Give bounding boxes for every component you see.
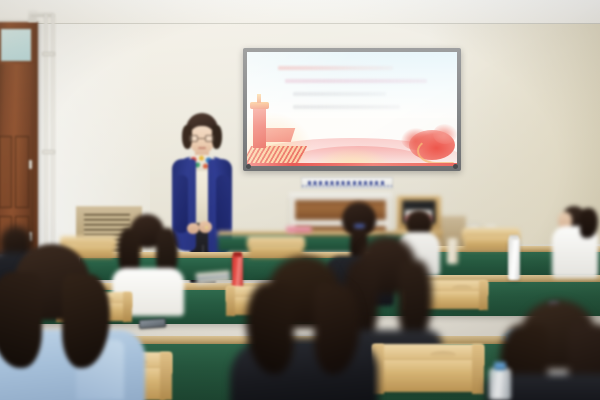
slide-text-line <box>293 92 386 96</box>
slide-text-line <box>278 66 393 70</box>
presenter-hand <box>187 223 199 234</box>
pipe-clip <box>42 150 55 154</box>
lectern-top <box>289 193 392 198</box>
glasses-lens <box>205 135 214 142</box>
slide-text-line <box>285 79 426 83</box>
wall-banner-sign <box>301 177 393 189</box>
wood-grain <box>430 351 456 358</box>
glasses-lens <box>189 135 198 142</box>
chair-post <box>479 280 488 310</box>
hair-tie <box>354 224 365 228</box>
slide-baseline <box>247 163 457 166</box>
presenter-ring <box>205 226 208 229</box>
projection-screen <box>247 52 457 166</box>
chair-post <box>472 344 484 394</box>
screen-mount <box>453 164 458 169</box>
bottle-cap <box>494 362 506 370</box>
ceiling <box>0 0 600 24</box>
wood-grain <box>452 285 472 290</box>
screen-mount <box>246 164 251 169</box>
slide-monument-base <box>247 146 307 163</box>
wall-pipe <box>44 14 48 254</box>
student-far-right <box>556 206 600 276</box>
white-thermos-cap <box>509 235 519 240</box>
smartphone <box>139 318 167 329</box>
presenter-mouth <box>198 147 206 149</box>
white-thermos <box>508 238 520 280</box>
door-panel <box>15 136 29 208</box>
chair-post <box>160 352 172 400</box>
pen <box>196 275 230 281</box>
door-transom-window <box>0 28 32 62</box>
door-panel <box>0 136 12 208</box>
pencil-case <box>286 226 312 233</box>
slide-text-line <box>293 105 401 109</box>
water-bottle <box>489 368 511 400</box>
chair <box>378 360 478 392</box>
student-foreground-left <box>0 244 140 400</box>
student-foreground-center <box>238 256 370 400</box>
wall-pipe <box>51 14 55 254</box>
phone-screen <box>140 319 165 328</box>
beige-thermos <box>447 238 458 264</box>
presenter-arm <box>216 175 230 233</box>
glasses-bridge <box>198 138 205 139</box>
pipe-clip <box>42 52 55 56</box>
glasses-icon <box>189 135 215 142</box>
student-hair-strand <box>0 272 42 368</box>
slide-swirl-motif <box>417 138 455 164</box>
door-hinge <box>29 160 32 169</box>
classroom-photo <box>0 0 600 400</box>
student-foreground-right <box>496 300 600 400</box>
wall-sign-subtext <box>302 185 392 187</box>
slide-text-block <box>261 66 447 118</box>
chair-post <box>226 286 235 316</box>
